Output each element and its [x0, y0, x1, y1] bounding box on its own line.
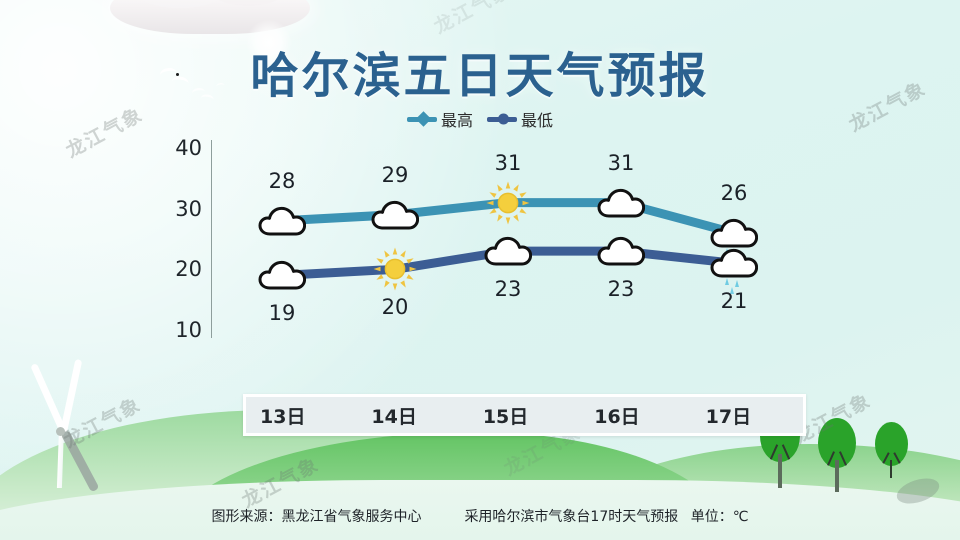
weather-forecast-graphic: 龙江气象 龙江气象 龙江气象 龙江气象 龙江气象 龙江气象 龙江气象 哈尔滨五日… — [0, 0, 960, 540]
footer-text: 图形来源：黑龙江省气象服务中心 采用哈尔滨市气象台17时天气预报 单位：℃ — [0, 506, 960, 526]
legend-high-marker — [416, 111, 432, 127]
legend-low-label: 最低 — [521, 107, 553, 131]
date-cell: 14日 — [357, 402, 468, 429]
weather-icon-sun — [372, 246, 418, 292]
weather-icon-rain — [710, 216, 758, 250]
weather-icon-rain — [710, 246, 758, 280]
legend-high-label: 最高 — [441, 107, 473, 131]
date-cell: 13日 — [246, 402, 357, 429]
data-value-label: 21 — [721, 289, 748, 313]
data-value-label: 31 — [608, 151, 635, 175]
page-title: 哈尔滨五日天气预报 — [0, 36, 960, 106]
weather-icon-cloud — [258, 204, 306, 238]
temperature-chart: 40302010 28293131261920232321 — [0, 130, 960, 355]
date-cell: 17日 — [692, 402, 803, 429]
chart-lines — [0, 130, 960, 355]
data-value-label: 20 — [382, 295, 409, 319]
footer-unit: 单位：℃ — [691, 509, 749, 525]
legend-item-low: 最低 — [487, 107, 553, 131]
weather-icon-cloud — [597, 234, 645, 268]
date-bar: 13日14日15日16日17日 — [243, 394, 806, 436]
weather-icon-sun — [485, 180, 531, 226]
date-cell: 16日 — [580, 402, 691, 429]
weather-icon-cloud — [484, 234, 532, 268]
legend-item-high: 最高 — [407, 107, 473, 131]
weather-icon-cloud — [597, 186, 645, 220]
footer-note: 采用哈尔滨市气象台17时天气预报 — [464, 509, 678, 525]
data-value-label: 29 — [382, 163, 409, 187]
chart-legend: 最高 最低 — [0, 107, 960, 131]
data-value-label: 26 — [721, 181, 748, 205]
legend-low-marker — [498, 114, 509, 125]
data-value-label: 28 — [269, 169, 296, 193]
weather-icon-cloud — [258, 258, 306, 292]
data-value-label: 19 — [269, 301, 296, 325]
weather-icon-cloud — [371, 198, 419, 232]
data-value-label: 23 — [608, 277, 635, 301]
legend-high-line — [407, 117, 437, 122]
date-cell: 15日 — [469, 402, 580, 429]
legend-low-line — [487, 117, 517, 122]
data-value-label: 31 — [495, 151, 522, 175]
data-value-label: 23 — [495, 277, 522, 301]
footer-source: 图形来源：黑龙江省气象服务中心 — [212, 509, 422, 525]
